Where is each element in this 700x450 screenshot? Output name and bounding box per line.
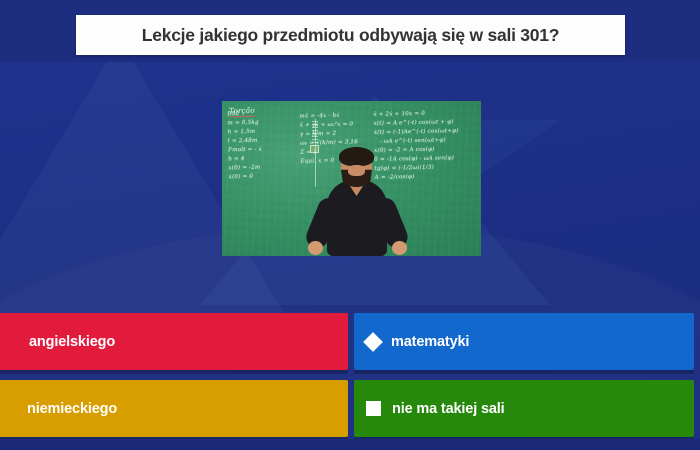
answer-option-green[interactable]: nie ma takiej sali (354, 380, 694, 437)
answer-option-blue[interactable]: matematyki (354, 313, 694, 370)
presenter-hair (339, 147, 374, 166)
answer-grid: angielskiego matematyki niemieckiego nie… (0, 313, 700, 439)
quiz-screen: Lekcje jakiego przedmiotu odbywają się w… (0, 0, 700, 450)
answer-option-yellow[interactable]: niemieckiego (0, 380, 348, 437)
presenter-figure (314, 149, 400, 256)
question-banner: Lekcje jakiego przedmiotu odbywają się w… (76, 15, 625, 55)
presenter-hand-right (392, 241, 407, 255)
answer-label-yellow: niemieckiego (0, 401, 117, 417)
chalkboard-diagram-spring (312, 121, 318, 144)
chalkboard-text-left: ES2 m = 0,5kg h = 1,5m l = 2,48m Fmolt =… (227, 110, 262, 183)
answer-label-blue: matematyki (391, 334, 469, 350)
answer-label-green: nie ma takiej sali (392, 401, 505, 417)
question-text: Lekcje jakiego przedmiotu odbywają się w… (142, 25, 559, 46)
diamond-icon (363, 332, 383, 352)
footer-strip (0, 439, 700, 450)
media-thumbnail[interactable]: Torção ES2 m = 0,5kg h = 1,5m l = 2,48m … (222, 101, 481, 256)
square-icon (366, 401, 381, 416)
presenter-hand-left (308, 241, 323, 255)
presenter-face (348, 165, 365, 176)
answer-label-red: angielskiego (0, 334, 115, 350)
answer-option-red[interactable]: angielskiego (0, 313, 348, 370)
